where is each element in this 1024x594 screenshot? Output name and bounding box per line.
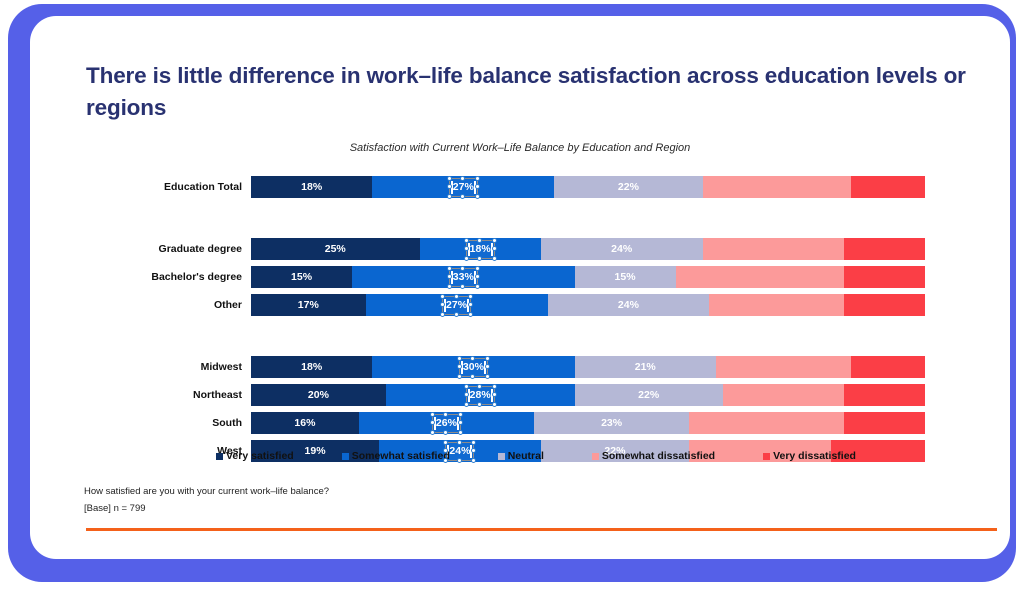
selection-handle-bl[interactable] bbox=[440, 312, 445, 317]
data-label: 28% bbox=[470, 390, 491, 401]
selection-handle-mr[interactable] bbox=[485, 364, 490, 369]
selected-data-label[interactable]: 27% bbox=[449, 178, 478, 197]
segment-very-satisfied[interactable]: 16% bbox=[251, 412, 359, 434]
legend-swatch-icon bbox=[216, 453, 223, 460]
selection-handle-bl[interactable] bbox=[447, 284, 452, 289]
selection-handle-tr[interactable] bbox=[485, 356, 490, 361]
data-label: 23% bbox=[601, 418, 622, 429]
slide-frame: There is little difference in work–life … bbox=[8, 4, 1016, 582]
selection-handle-tr[interactable] bbox=[475, 266, 480, 271]
selected-data-label[interactable]: 33% bbox=[449, 268, 478, 287]
legend-item-neutral[interactable]: Neutral bbox=[498, 450, 544, 462]
segment-somewhat-satisfied[interactable]: 33% bbox=[352, 266, 574, 288]
selection-handle-br[interactable] bbox=[458, 430, 463, 435]
selection-handle-bl[interactable] bbox=[430, 430, 435, 435]
selection-handle-br[interactable] bbox=[468, 312, 473, 317]
segment-very-dissatisfied[interactable] bbox=[844, 412, 925, 434]
selection-handle-tl[interactable] bbox=[447, 176, 452, 181]
selection-handle-br[interactable] bbox=[492, 256, 497, 261]
legend-swatch-icon bbox=[592, 453, 599, 460]
segment-very-satisfied[interactable]: 18% bbox=[251, 176, 372, 198]
selection-handle-bc[interactable] bbox=[470, 374, 475, 379]
selection-handle-ml[interactable] bbox=[464, 246, 469, 251]
stacked-bar[interactable]: 18%27%22% bbox=[251, 176, 925, 198]
selection-handle-tl[interactable] bbox=[440, 294, 445, 299]
data-label: 18% bbox=[301, 362, 322, 373]
legend-label: Somewhat dissatisfied bbox=[602, 450, 715, 462]
selection-handle-tr[interactable] bbox=[468, 294, 473, 299]
data-label: 24% bbox=[618, 300, 639, 311]
row-label-education-total: Education Total bbox=[52, 176, 242, 198]
selected-data-label[interactable]: 26% bbox=[432, 414, 461, 433]
row-label-midwest: Midwest bbox=[52, 356, 242, 378]
data-label: 33% bbox=[453, 272, 474, 283]
data-label: 15% bbox=[291, 272, 312, 283]
segment-very-satisfied[interactable]: 25% bbox=[251, 238, 420, 260]
selection-handle-tc[interactable] bbox=[460, 176, 465, 181]
data-label: 27% bbox=[446, 300, 467, 311]
segment-neutral[interactable]: 21% bbox=[575, 356, 717, 378]
selection-handle-tc[interactable] bbox=[470, 356, 475, 361]
legend-swatch-icon bbox=[498, 453, 505, 460]
selection-handle-bc[interactable] bbox=[457, 458, 462, 463]
selection-handle-tl[interactable] bbox=[430, 412, 435, 417]
chart-row: Graduate degree25%18%24% bbox=[251, 238, 925, 260]
accent-rule bbox=[86, 528, 997, 531]
segment-somewhat-satisfied[interactable]: 27% bbox=[366, 294, 548, 316]
legend-label: Very dissatisfied bbox=[773, 450, 856, 462]
legend-item-very-satisfied[interactable]: Very satisfied bbox=[216, 450, 294, 462]
data-label: 16% bbox=[294, 418, 315, 429]
selection-handle-bl[interactable] bbox=[464, 256, 469, 261]
stacked-bar[interactable]: 17%27%24% bbox=[251, 294, 925, 316]
selection-handle-ml[interactable] bbox=[430, 420, 435, 425]
data-label: 27% bbox=[453, 182, 474, 193]
segment-somewhat-dissatisfied[interactable] bbox=[703, 238, 845, 260]
segment-somewhat-satisfied[interactable]: 18% bbox=[420, 238, 541, 260]
selection-handle-br[interactable] bbox=[475, 284, 480, 289]
segment-somewhat-dissatisfied[interactable] bbox=[676, 266, 845, 288]
selection-handle-tc[interactable] bbox=[477, 238, 482, 243]
selection-handle-mr[interactable] bbox=[492, 392, 497, 397]
footnote-base: [Base] n = 799 bbox=[84, 503, 146, 514]
selection-handle-tc[interactable] bbox=[460, 266, 465, 271]
data-label: 15% bbox=[615, 272, 636, 283]
selection-handle-tr[interactable] bbox=[492, 238, 497, 243]
segment-very-satisfied[interactable]: 20% bbox=[251, 384, 386, 406]
selection-handle-tc[interactable] bbox=[457, 440, 462, 445]
segment-very-dissatisfied[interactable] bbox=[851, 176, 925, 198]
selection-handle-br[interactable] bbox=[475, 194, 480, 199]
selection-handle-bc[interactable] bbox=[454, 312, 459, 317]
slide-body: There is little difference in work–life … bbox=[30, 16, 1010, 559]
chart-legend: Very satisfiedSomewhat satisfiedNeutralS… bbox=[216, 450, 856, 462]
selection-handle-tr[interactable] bbox=[492, 384, 497, 389]
segment-neutral[interactable]: 15% bbox=[575, 266, 676, 288]
data-label: 21% bbox=[635, 362, 656, 373]
selection-handle-br[interactable] bbox=[485, 374, 490, 379]
row-label-northeast: Northeast bbox=[52, 384, 242, 406]
segment-very-dissatisfied[interactable] bbox=[851, 356, 925, 378]
selection-handle-tc[interactable] bbox=[443, 412, 448, 417]
stacked-bar[interactable]: 20%28%22% bbox=[251, 384, 925, 406]
selection-handle-tl[interactable] bbox=[443, 440, 448, 445]
segment-neutral[interactable]: 24% bbox=[548, 294, 710, 316]
selection-handle-bc[interactable] bbox=[477, 402, 482, 407]
stacked-bar[interactable]: 18%30%21% bbox=[251, 356, 925, 378]
legend-swatch-icon bbox=[763, 453, 770, 460]
selection-handle-mr[interactable] bbox=[468, 302, 473, 307]
selection-handle-tr[interactable] bbox=[471, 440, 476, 445]
data-label: 17% bbox=[298, 300, 319, 311]
selection-handle-tc[interactable] bbox=[454, 294, 459, 299]
selected-data-label[interactable]: 18% bbox=[466, 240, 495, 259]
data-label: 20% bbox=[308, 390, 329, 401]
segment-neutral[interactable]: 22% bbox=[554, 176, 702, 198]
stacked-bar-chart[interactable]: Education Total18%27%22%Graduate degree2… bbox=[30, 16, 1010, 559]
legend-label: Very satisfied bbox=[226, 450, 294, 462]
segment-somewhat-dissatisfied[interactable] bbox=[709, 294, 844, 316]
chart-row: Midwest18%30%21% bbox=[251, 356, 925, 378]
selection-handle-bl[interactable] bbox=[457, 374, 462, 379]
selection-handle-tr[interactable] bbox=[458, 412, 463, 417]
segment-somewhat-satisfied[interactable]: 28% bbox=[386, 384, 575, 406]
legend-item-very-dissatisfied[interactable]: Very dissatisfied bbox=[763, 450, 856, 462]
segment-somewhat-satisfied[interactable]: 30% bbox=[372, 356, 574, 378]
data-label: 26% bbox=[436, 418, 457, 429]
selection-handle-mr[interactable] bbox=[475, 274, 480, 279]
selection-handle-tl[interactable] bbox=[464, 238, 469, 243]
segment-very-dissatisfied[interactable] bbox=[844, 384, 925, 406]
segment-somewhat-dissatisfied[interactable] bbox=[703, 176, 851, 198]
legend-item-somewhat-satisfied[interactable]: Somewhat satisfied bbox=[342, 450, 450, 462]
selection-handle-ml[interactable] bbox=[457, 364, 462, 369]
selection-handle-mr[interactable] bbox=[475, 184, 480, 189]
selected-data-label[interactable]: 28% bbox=[466, 386, 495, 405]
selection-handle-mr[interactable] bbox=[458, 420, 463, 425]
row-label-graduate-degree: Graduate degree bbox=[52, 238, 242, 260]
data-label: 25% bbox=[325, 244, 346, 255]
selection-handle-bc[interactable] bbox=[460, 194, 465, 199]
row-label-bachelor-s-degree: Bachelor's degree bbox=[52, 266, 242, 288]
selection-handle-bc[interactable] bbox=[477, 256, 482, 261]
segment-very-satisfied[interactable]: 15% bbox=[251, 266, 352, 288]
footnote-question: How satisfied are you with your current … bbox=[84, 486, 329, 497]
data-label: 18% bbox=[301, 182, 322, 193]
selection-handle-ml[interactable] bbox=[464, 392, 469, 397]
data-label: 24% bbox=[449, 446, 470, 457]
legend-swatch-icon bbox=[342, 453, 349, 460]
chart-row: Bachelor's degree15%33%15% bbox=[251, 266, 925, 288]
stacked-bar[interactable]: 15%33%15% bbox=[251, 266, 925, 288]
selection-handle-bl[interactable] bbox=[443, 458, 448, 463]
data-label: 22% bbox=[618, 182, 639, 193]
segment-somewhat-dissatisfied[interactable] bbox=[716, 356, 851, 378]
legend-item-somewhat-dissatisfied[interactable]: Somewhat dissatisfied bbox=[592, 450, 715, 462]
legend-label: Somewhat satisfied bbox=[352, 450, 450, 462]
segment-very-dissatisfied[interactable] bbox=[844, 294, 925, 316]
selection-handle-bc[interactable] bbox=[443, 430, 448, 435]
row-label-west: West bbox=[52, 440, 242, 462]
legend-label: Neutral bbox=[508, 450, 544, 462]
chart-row: Education Total18%27%22% bbox=[251, 176, 925, 198]
segment-neutral[interactable]: 23% bbox=[534, 412, 689, 434]
segment-very-dissatisfied[interactable] bbox=[844, 266, 925, 288]
data-label: 30% bbox=[463, 362, 484, 373]
selection-handle-tl[interactable] bbox=[464, 384, 469, 389]
selection-handle-tr[interactable] bbox=[475, 176, 480, 181]
selection-handle-tc[interactable] bbox=[477, 384, 482, 389]
chart-row: Northeast20%28%22% bbox=[251, 384, 925, 406]
segment-neutral[interactable]: 24% bbox=[541, 238, 703, 260]
segment-very-satisfied[interactable]: 17% bbox=[251, 294, 366, 316]
chart-row: Other17%27%24% bbox=[251, 294, 925, 316]
segment-very-dissatisfied[interactable] bbox=[844, 238, 925, 260]
selection-handle-mr[interactable] bbox=[492, 246, 497, 251]
stacked-bar[interactable]: 16%26%23% bbox=[251, 412, 925, 434]
row-label-south: South bbox=[52, 412, 242, 434]
selection-handle-ml[interactable] bbox=[447, 274, 452, 279]
selection-handle-br[interactable] bbox=[492, 402, 497, 407]
selection-handle-tl[interactable] bbox=[457, 356, 462, 361]
selection-handle-ml[interactable] bbox=[447, 184, 452, 189]
slide-card: There is little difference in work–life … bbox=[30, 16, 1010, 559]
selected-data-label[interactable]: 27% bbox=[442, 296, 471, 315]
selection-handle-tl[interactable] bbox=[447, 266, 452, 271]
selection-handle-bl[interactable] bbox=[464, 402, 469, 407]
selection-handle-bc[interactable] bbox=[460, 284, 465, 289]
data-label: 24% bbox=[611, 244, 632, 255]
selected-data-label[interactable]: 30% bbox=[459, 358, 488, 377]
segment-somewhat-dissatisfied[interactable] bbox=[723, 384, 844, 406]
selection-handle-bl[interactable] bbox=[447, 194, 452, 199]
segment-very-satisfied[interactable]: 18% bbox=[251, 356, 372, 378]
row-label-other: Other bbox=[52, 294, 242, 316]
data-label: 22% bbox=[638, 390, 659, 401]
chart-row: South16%26%23% bbox=[251, 412, 925, 434]
stacked-bar[interactable]: 25%18%24% bbox=[251, 238, 925, 260]
segment-neutral[interactable]: 22% bbox=[575, 384, 723, 406]
data-label: 18% bbox=[470, 244, 491, 255]
segment-somewhat-dissatisfied[interactable] bbox=[689, 412, 844, 434]
segment-somewhat-satisfied[interactable]: 26% bbox=[359, 412, 534, 434]
segment-somewhat-satisfied[interactable]: 27% bbox=[372, 176, 554, 198]
